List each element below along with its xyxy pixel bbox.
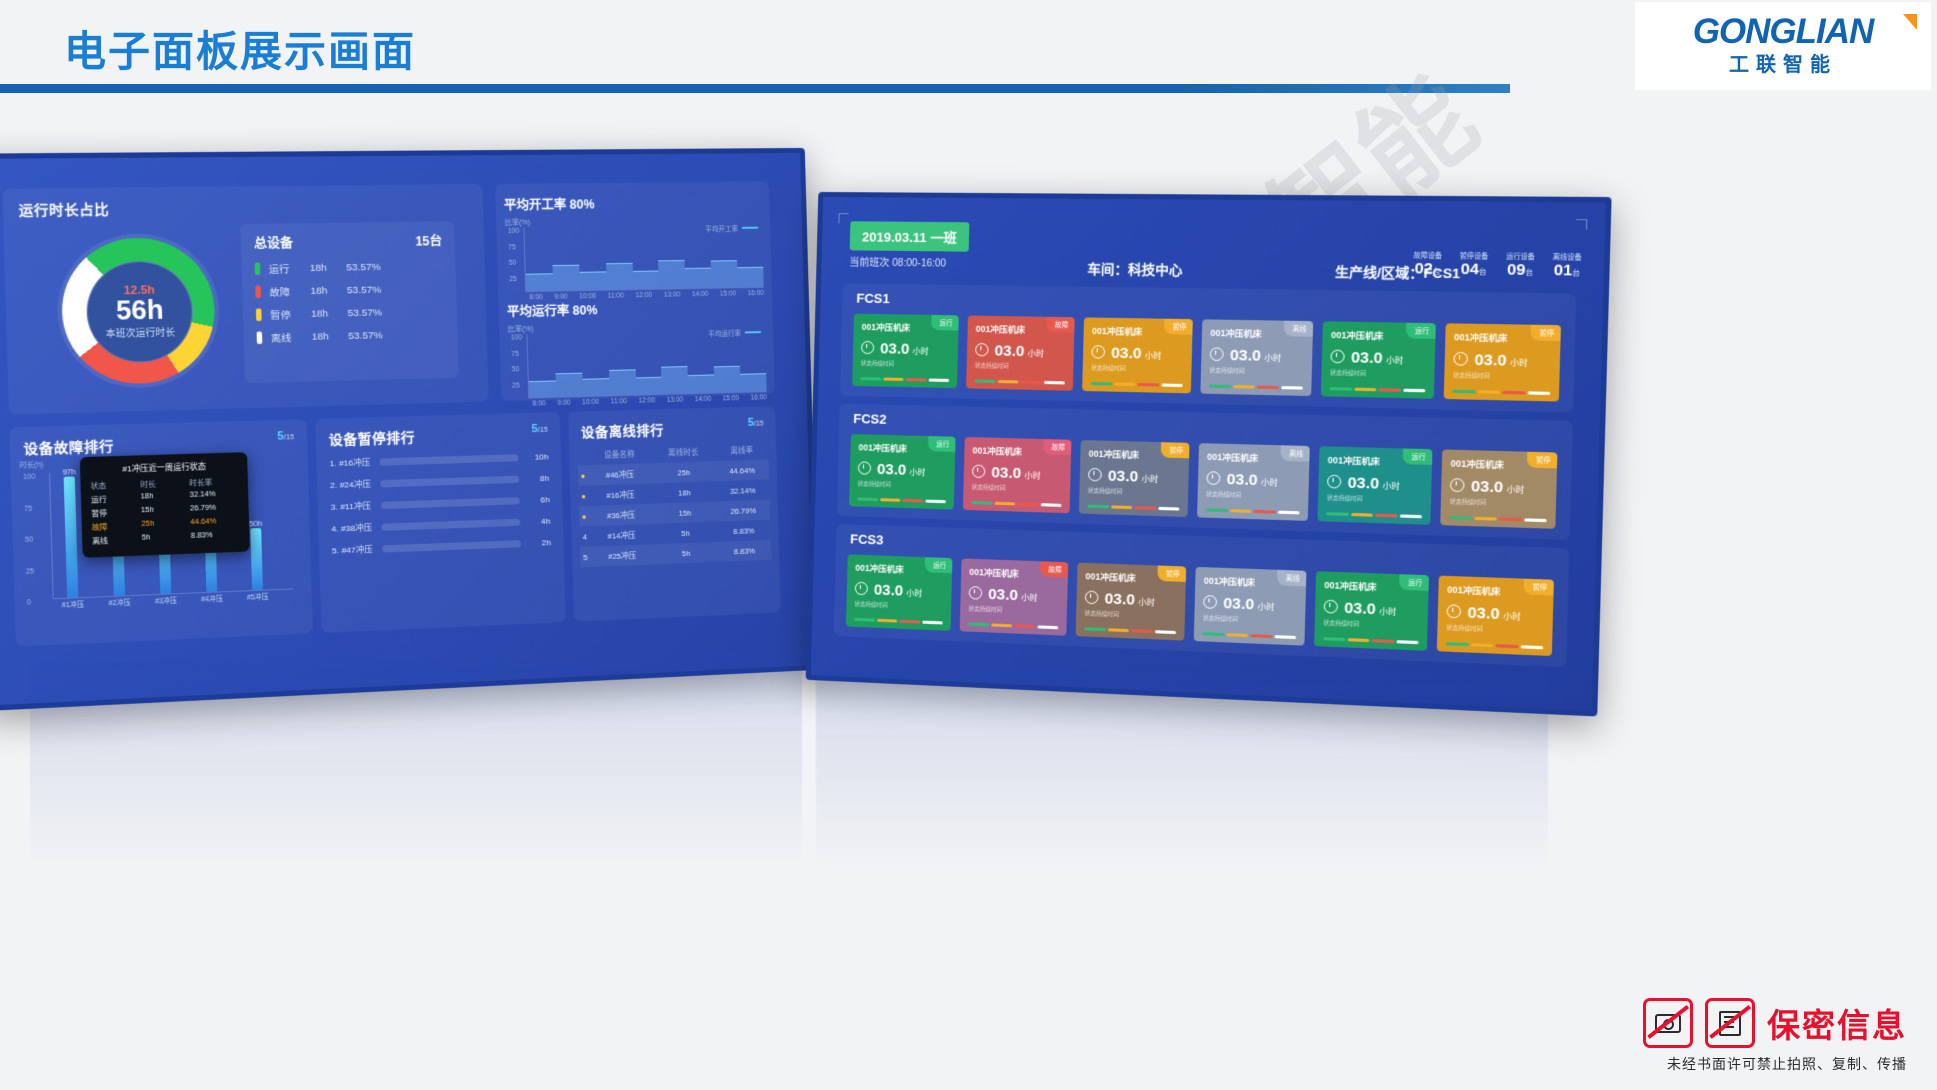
machine-duration: 03.0小时 — [1327, 474, 1423, 495]
machine-status-badge: 运行 — [925, 557, 953, 573]
clock-icon — [858, 461, 871, 474]
rank-cell: ● — [578, 486, 588, 507]
tooltip-duration: 18h — [140, 492, 189, 504]
group-fcs1: FCS1 运行001冲压机床03.0小时状态持续时间故障001冲压机床03.0小… — [840, 283, 1576, 412]
machine-note: 状态持续时间 — [1446, 623, 1544, 635]
no-copy-icon — [1705, 998, 1755, 1048]
list-item[interactable]: 1. #16冲压10h — [329, 451, 548, 469]
machine-card[interactable]: 故障001冲压机床03.0小时状态持续时间 — [966, 316, 1075, 391]
chart-step — [659, 260, 686, 289]
legend-percent: 53.57% — [347, 307, 382, 319]
machine-note: 状态持续时间 — [1091, 364, 1183, 374]
counter-value: 04台 — [1459, 260, 1488, 278]
fault-bar[interactable] — [250, 528, 263, 590]
machine-status-badge: 离线 — [1280, 445, 1309, 461]
bar-label: #2冲压 — [108, 596, 131, 607]
machine-status-badge: 暂停 — [1161, 442, 1190, 458]
legend-percent: 53.57% — [348, 329, 383, 341]
rank-bar — [380, 476, 519, 488]
machine-status-badge: 暂停 — [1164, 319, 1193, 335]
x-tick: 12:00 — [635, 292, 652, 299]
rank-bar — [381, 519, 520, 531]
machine-status-badge: 运行 — [931, 315, 959, 331]
status-counter: 离线设备01台 — [1552, 251, 1582, 280]
counter-value: 02台 — [1413, 260, 1442, 278]
shift-date-badge: 2019.03.11 一班 — [850, 221, 970, 251]
x-tick: 15:00 — [720, 290, 737, 297]
legend-color-dot — [255, 285, 261, 298]
bar-label: #3冲压 — [155, 594, 178, 605]
tooltip-rate: 32.14% — [190, 490, 239, 502]
confidential-headline: 保密信息 — [1767, 999, 1907, 1047]
logo-spark-icon — [1903, 14, 1917, 30]
tooltip-state: 运行 — [91, 493, 141, 505]
y-tick: 100 — [23, 473, 35, 481]
legend-row: 故障18h53.57% — [255, 281, 444, 299]
corner-bracket — [838, 213, 848, 223]
machine-status-badge: 暂停 — [1157, 565, 1186, 581]
list-item[interactable]: 2. #24冲压8h — [330, 473, 549, 492]
column-header: 离线时长 — [651, 442, 715, 463]
machine-duration: 03.0小时 — [861, 340, 950, 359]
x-tick: 16:00 — [750, 394, 766, 401]
machine-card[interactable]: 运行001冲压机床03.0小时状态持续时间 — [1317, 446, 1432, 525]
rate-chart: 平均开工率 80%比率(%)平均开工率1007550258:009:0010:0… — [504, 193, 764, 301]
tooltip-duration: 15h — [141, 505, 190, 517]
clock-icon — [1327, 475, 1341, 489]
tooltip-duration: 5h — [142, 533, 191, 545]
clock-icon — [969, 586, 983, 600]
offline-duration: 18h — [652, 481, 716, 503]
shift-time-label: 当前班次 08:00-16:00 — [849, 253, 946, 269]
clock-icon — [1088, 468, 1102, 482]
clock-icon — [1203, 595, 1217, 609]
machine-note: 状态持续时间 — [861, 359, 950, 369]
chart-step — [714, 366, 741, 393]
machine-status-badge: 运行 — [928, 436, 956, 452]
machine-card[interactable]: 暂停001冲压机床03.0小时状态持续时间 — [1444, 323, 1561, 401]
offline-duration: 5h — [654, 542, 718, 565]
clock-icon — [975, 343, 989, 356]
legend-total-label: 总设备 — [254, 234, 293, 252]
status-counters: 故障设备02台暂停设备04台运行设备09台离线设备01台 — [1413, 249, 1582, 279]
status-counter: 故障设备02台 — [1413, 249, 1442, 278]
counter-label: 离线设备 — [1553, 251, 1582, 262]
offline-duration: 5h — [653, 522, 717, 545]
device-name: #46冲压 — [588, 463, 653, 485]
clock-icon — [1446, 604, 1461, 618]
machine-status-bars — [1453, 390, 1551, 395]
rank-value: 8h — [526, 474, 549, 484]
confidential-notice: 保密信息 未经书面许可禁止拍照、复制、传播 — [1643, 998, 1907, 1074]
machine-duration: 03.0小时 — [1446, 603, 1544, 625]
confidential-subtext: 未经书面许可禁止拍照、复制、传播 — [1643, 1054, 1907, 1074]
legend-percent: 53.57% — [347, 284, 382, 296]
rank-value: 4h — [527, 517, 550, 527]
rank-bar — [380, 454, 519, 466]
rank-bar — [382, 540, 521, 553]
tooltip-state: 离线 — [92, 534, 142, 546]
machine-status-bars — [1087, 505, 1179, 511]
clock-icon — [1091, 345, 1105, 359]
left-display-screen: 运行时长占比 12.5h 56h 本班次运行时长 总设备 15台 运行18h53… — [0, 148, 819, 711]
chart-step — [579, 271, 606, 290]
pause-rank-count: 5/15 — [531, 423, 548, 436]
machine-status-bars — [860, 377, 949, 382]
offline-rate: 8.83% — [717, 540, 771, 562]
y-tick: 75 — [511, 350, 519, 357]
x-tick: 10:00 — [582, 399, 599, 407]
machine-duration: 03.0小时 — [1091, 344, 1183, 363]
machine-status-badge: 故障 — [1043, 439, 1071, 455]
bar-value: 97h — [62, 468, 75, 476]
y-tick: 25 — [512, 382, 520, 389]
tooltip-header: 状态 — [91, 480, 141, 492]
clock-icon — [1453, 352, 1468, 366]
legend-name: 运行 — [269, 261, 310, 276]
no-photo-icon — [1643, 998, 1693, 1048]
y-tick: 50 — [25, 536, 33, 544]
right-display-screen: 2019.03.11 一班 当前班次 08:00-16:00 车间：科技中心 生… — [806, 192, 1612, 717]
runtime-ratio-panel: 运行时长占比 12.5h 56h 本班次运行时长 总设备 15台 运行18h53… — [2, 184, 488, 415]
tooltip-rate: 8.83% — [191, 531, 240, 543]
machine-status-badge: 运行 — [1399, 574, 1429, 591]
tooltip-state: 暂停 — [91, 507, 141, 519]
x-tick: 11:00 — [611, 398, 627, 406]
machine-duration: 03.0小时 — [855, 581, 944, 602]
machine-card[interactable]: 暂停001冲压机床03.0小时状态持续时间 — [1079, 440, 1190, 517]
machine-card[interactable]: 暂停001冲压机床03.0小时状态持续时间 — [1440, 449, 1557, 528]
machine-note: 状态持续时间 — [972, 483, 1062, 494]
legend-duration: 18h — [311, 307, 348, 319]
machine-note: 状态持续时间 — [975, 361, 1066, 371]
chart-step — [529, 381, 556, 398]
rank-value: 10h — [526, 452, 549, 462]
chart-step — [711, 260, 738, 288]
tooltip-header: 时长 — [140, 478, 189, 490]
machine-card[interactable]: 运行001冲压机床03.0小时状态持续时间 — [1321, 321, 1436, 398]
machine-duration: 03.0小时 — [1203, 594, 1297, 615]
x-tick: 8:00 — [532, 400, 545, 408]
machine-card[interactable]: 离线001冲压机床03.0小时状态持续时间 — [1200, 319, 1313, 396]
rank-cell: 4 — [580, 526, 590, 547]
clock-icon — [855, 582, 868, 596]
fault-tooltip: #1冲压近一周运行状态 状态时长时长率 运行18h32.14%暂停15h26.7… — [80, 452, 250, 558]
y-tick: 75 — [508, 244, 516, 251]
machine-duration: 03.0小时 — [1210, 346, 1304, 365]
machine-card[interactable]: 故障001冲压机床03.0小时状态持续时间 — [963, 437, 1072, 513]
chart-step — [632, 270, 659, 289]
legend-row: 运行18h53.57% — [255, 259, 444, 277]
y-tick: 50 — [512, 366, 520, 373]
y-tick: 25 — [509, 275, 517, 282]
machine-note: 状态持续时间 — [1206, 490, 1300, 501]
machine-status-bars — [971, 501, 1061, 507]
offline-table: 设备名称离线时长离线率 ●#46冲压25h44.64%●#16冲压18h32.1… — [577, 440, 771, 567]
machine-note: 状态持续时间 — [1323, 618, 1419, 630]
tooltip-title: #1冲压近一周运行状态 — [90, 460, 238, 476]
donut-caption: 本班次运行时长 — [105, 325, 175, 340]
clock-icon — [1085, 590, 1099, 604]
machine-note: 状态持续时间 — [1088, 486, 1180, 497]
offline-duration: 15h — [653, 501, 717, 523]
bar-label: #5冲压 — [247, 590, 269, 601]
machine-note: 状态持续时间 — [1330, 368, 1426, 378]
clock-icon — [1210, 347, 1224, 361]
machine-duration: 03.0小时 — [858, 460, 947, 480]
clock-icon — [972, 465, 986, 479]
machine-card[interactable]: 运行001冲压机床03.0小时状态持续时间 — [849, 434, 956, 510]
machine-status-bars — [1446, 642, 1543, 649]
pause-rank-panel: 设备暂停排行 5/15 1. #16冲压10h2. #24冲压8h3. #11冲… — [315, 412, 565, 633]
machine-note: 状态持续时间 — [1203, 614, 1297, 626]
offline-duration: 25h — [652, 461, 716, 483]
column-header: 设备名称 — [587, 444, 652, 465]
chart-step — [688, 374, 715, 393]
device-name: #25冲压 — [590, 544, 655, 567]
title-divider — [0, 84, 1510, 93]
counter-label: 暂停设备 — [1460, 250, 1489, 261]
legend-duration: 18h — [310, 284, 347, 296]
tooltip-rate: 44.64% — [190, 517, 239, 529]
y-tick: 100 — [508, 228, 520, 235]
bulb-icon: ● — [581, 491, 586, 500]
list-item[interactable]: 5. #47冲压2h — [332, 537, 551, 557]
machine-status-bars — [1330, 387, 1426, 392]
chart-step — [606, 263, 633, 290]
rate-charts-panel: 平均开工率 80%比率(%)平均开工率1007550258:009:0010:0… — [495, 181, 775, 401]
device-name: #14冲压 — [589, 524, 654, 547]
offline-rate: 44.64% — [715, 459, 769, 481]
y-tick: 0 — [27, 599, 31, 607]
machine-card[interactable]: 离线001冲压机床03.0小时状态持续时间 — [1194, 567, 1307, 646]
x-tick: 15:00 — [723, 395, 740, 402]
legend-name: 暂停 — [270, 306, 311, 321]
legend-color-dot — [255, 262, 261, 275]
clock-icon — [1324, 600, 1338, 614]
legend-total-value: 15台 — [415, 232, 442, 250]
tooltip-row: 离线5h8.83% — [92, 531, 240, 547]
rank-value: 6h — [527, 495, 550, 505]
fault-rank-count: 5/15 — [277, 430, 294, 443]
chart-step — [740, 373, 766, 392]
chart-title: 平均开工率 80% — [504, 193, 762, 213]
machine-card[interactable]: 运行001冲压机床03.0小时状态持续时间 — [852, 314, 959, 389]
machine-status-bars — [974, 379, 1064, 384]
machine-status-bars — [1326, 512, 1422, 518]
device-name: #36冲压 — [589, 504, 654, 527]
x-tick: 9:00 — [554, 293, 567, 300]
legend-name: 故障 — [269, 284, 310, 299]
legend-color-dot — [256, 308, 262, 321]
workshop-label: 车间：科技中心 — [1087, 258, 1183, 279]
clock-icon — [1206, 471, 1220, 485]
legend-row: 离线18h53.57% — [257, 327, 445, 346]
offline-rank-title: 设备离线排行 — [581, 419, 664, 441]
machine-duration: 03.0小时 — [975, 342, 1066, 361]
offline-rate: 32.14% — [716, 479, 770, 501]
machine-card[interactable]: 暂停001冲压机床03.0小时状态持续时间 — [1437, 576, 1554, 656]
bulb-icon: ● — [580, 471, 585, 480]
device-legend: 总设备 15台 运行18h53.57%故障18h53.57%暂停18h53.57… — [240, 221, 458, 383]
machine-note: 状态持续时间 — [968, 604, 1058, 616]
machine-status-bars — [1449, 516, 1546, 522]
x-tick: 9:00 — [557, 399, 570, 406]
runtime-donut-chart: 12.5h 56h 本班次运行时长 — [60, 237, 217, 385]
machine-duration: 03.0小时 — [1450, 477, 1548, 498]
rank-index: 3. #11冲压 — [331, 500, 374, 513]
rank-index: 4. #38冲压 — [331, 522, 374, 535]
machine-status-badge: 故障 — [1046, 317, 1074, 333]
list-item[interactable]: 3. #11冲压6h — [331, 494, 550, 513]
machine-duration: 03.0小时 — [1085, 589, 1177, 610]
rank-value: 2h — [528, 538, 551, 548]
rank-index: 2. #24冲压 — [330, 478, 373, 491]
machine-status-bars — [1206, 508, 1300, 514]
bar-label: #1冲压 — [61, 598, 84, 610]
fault-y-axis-label: 时长(h) — [19, 458, 43, 469]
y-tick: 75 — [24, 505, 32, 513]
fault-bar[interactable] — [64, 476, 79, 598]
rank-cell: 5 — [580, 547, 590, 568]
device-name: #16冲压 — [588, 483, 653, 506]
legend-row: 暂停18h53.57% — [256, 304, 444, 322]
chart-step — [737, 267, 763, 287]
machine-status-badge: 暂停 — [1523, 579, 1554, 596]
group-title: FCS1 — [856, 291, 890, 307]
y-tick: 50 — [509, 260, 517, 267]
machine-status-bars — [854, 618, 943, 625]
machine-card[interactable]: 运行001冲压机床03.0小时状态持续时间 — [846, 554, 953, 631]
x-tick: 11:00 — [608, 292, 624, 299]
machine-status-badge: 运行 — [1402, 448, 1432, 465]
x-tick: 8:00 — [529, 294, 542, 301]
x-tick: 14:00 — [692, 291, 709, 298]
chart-step — [552, 265, 579, 290]
machine-duration: 03.0小时 — [1206, 470, 1300, 490]
list-item[interactable]: 4. #38冲压4h — [331, 515, 550, 534]
machine-status-bars — [1209, 385, 1303, 390]
legend-color-dot — [257, 331, 263, 344]
group-title: FCS3 — [850, 531, 884, 547]
offline-rate: 8.83% — [717, 520, 771, 542]
rank-cell: ● — [579, 506, 589, 527]
offline-rank-count: 5/15 — [747, 416, 763, 429]
machine-status-bars — [1084, 627, 1176, 634]
clock-icon — [1330, 350, 1344, 364]
machine-note: 状态持续时间 — [1327, 493, 1423, 504]
machine-note: 状态持续时间 — [1453, 371, 1551, 381]
corner-bracket — [1576, 219, 1588, 230]
clock-icon — [1450, 478, 1465, 492]
tooltip-header: 时长率 — [189, 476, 238, 488]
company-logo: GONGLIAN 工联智能 — [1635, 2, 1931, 90]
counter-value: 01台 — [1552, 261, 1582, 279]
chart-step — [526, 273, 553, 291]
machine-note: 状态持续时间 — [1450, 497, 1548, 508]
counter-label: 运行设备 — [1506, 250, 1535, 261]
machine-card[interactable]: 故障001冲压机床03.0小时状态持续时间 — [960, 558, 1069, 635]
chart-step — [685, 268, 712, 288]
fault-rank-panel: 设备故障排行 5/15 时长(h) 100755025097h#1冲压#2冲压#… — [9, 419, 312, 647]
rank-index: 5. #47冲压 — [332, 544, 375, 557]
machine-note: 状态持续时间 — [858, 479, 947, 490]
x-tick: 12:00 — [638, 397, 655, 405]
group-title: FCS2 — [853, 411, 887, 427]
donut-total-hours: 56h — [116, 296, 164, 326]
tooltip-rate: 26.79% — [190, 504, 239, 516]
counter-label: 故障设备 — [1414, 249, 1443, 260]
status-counter: 暂停设备04台 — [1459, 250, 1488, 279]
chart-step — [635, 377, 662, 395]
machine-card[interactable]: 暂停001冲压机床03.0小时状态持续时间 — [1082, 317, 1193, 393]
machine-note: 状态持续时间 — [1209, 366, 1303, 376]
legend-name: 离线 — [271, 329, 312, 344]
rank-bar — [381, 497, 520, 509]
machine-status-bars — [857, 497, 946, 503]
machine-status-badge: 暂停 — [1527, 452, 1558, 469]
machine-status-bars — [1323, 637, 1419, 644]
logo-text-en: GONGLIAN — [1693, 14, 1874, 49]
bulb-icon: ● — [582, 512, 587, 521]
donut-center: 12.5h 56h 本班次运行时长 — [85, 260, 194, 363]
machine-card[interactable]: 离线001冲压机床03.0小时状态持续时间 — [1197, 443, 1310, 521]
pause-rank-title: 设备暂停排行 — [328, 426, 415, 448]
x-tick: 16:00 — [747, 290, 763, 297]
x-tick: 13:00 — [664, 291, 681, 298]
rank-cell: ● — [578, 465, 588, 486]
machine-status-badge: 暂停 — [1530, 325, 1561, 341]
machine-card[interactable]: 暂停001冲压机床03.0小时状态持续时间 — [1076, 563, 1187, 641]
machine-duration: 03.0小时 — [969, 585, 1060, 606]
offline-rank-panel: 设备离线排行 5/15 设备名称离线时长离线率 ●#46冲压25h44.64%●… — [568, 406, 781, 622]
machine-status-badge: 故障 — [1040, 561, 1068, 577]
offline-rate: 26.79% — [716, 500, 770, 522]
y-tick: 25 — [26, 568, 34, 576]
machine-duration: 03.0小时 — [1324, 599, 1420, 620]
tooltip-duration: 25h — [141, 519, 190, 531]
machine-note: 状态持续时间 — [854, 600, 943, 612]
chart-step — [555, 372, 582, 396]
x-tick: 14:00 — [695, 396, 712, 404]
fault-rank-title: 设备故障排行 — [23, 435, 114, 458]
tooltip-row: 运行18h32.14% — [91, 490, 239, 505]
tooltip-state: 故障 — [92, 521, 142, 533]
machine-card[interactable]: 运行001冲压机床03.0小时状态持续时间 — [1314, 571, 1429, 651]
bar-label: #4冲压 — [201, 592, 223, 603]
x-tick: 10:00 — [579, 293, 596, 300]
group-fcs2: FCS2 运行001冲压机床03.0小时状态持续时间故障001冲压机床03.0小… — [837, 404, 1573, 540]
machine-status-bars — [1091, 382, 1183, 387]
page-title: 电子面板展示画面 — [64, 18, 416, 79]
counter-value: 09台 — [1505, 261, 1534, 279]
machine-duration: 03.0小时 — [1088, 467, 1180, 487]
y-tick: 100 — [511, 334, 523, 341]
x-tick: 13:00 — [667, 396, 684, 404]
bar-value: 50h — [249, 521, 262, 529]
legend-duration: 18h — [312, 330, 349, 342]
legend-percent: 53.57% — [346, 261, 381, 273]
machine-duration: 03.0小时 — [1330, 349, 1426, 369]
col-rank — [577, 446, 587, 466]
machine-status-badge: 离线 — [1284, 321, 1313, 337]
group-fcs3: FCS3 运行001冲压机床03.0小时状态持续时间故障001冲压机床03.0小… — [834, 524, 1570, 667]
chart-step — [609, 370, 636, 396]
tooltip-row: 暂停15h26.79% — [91, 504, 239, 520]
chart-step — [661, 366, 688, 394]
runtime-ratio-title: 运行时长占比 — [18, 198, 109, 219]
chart-step — [582, 378, 609, 396]
